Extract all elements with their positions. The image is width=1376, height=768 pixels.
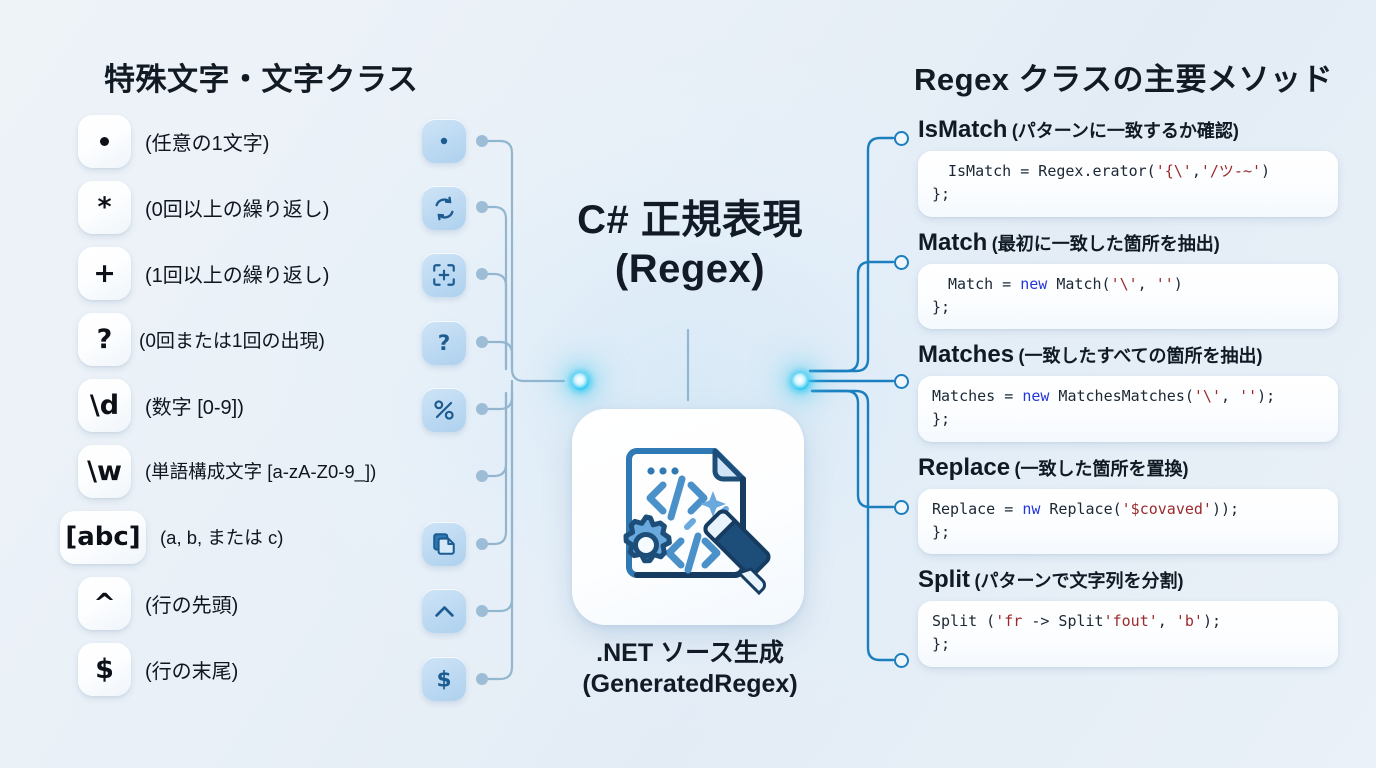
method-heading: Split (パターンで文字列を分割): [918, 566, 1338, 594]
plus-square-icon: [422, 253, 466, 297]
method-block-replace: Replace (一致した箇所を置換) Replace = nw Replace…: [918, 454, 1338, 555]
center-caption: .NET ソース生成 (GeneratedRegex): [520, 638, 860, 701]
page-title-line2: (Regex): [520, 245, 860, 294]
method-note: (一致した箇所を置換): [1015, 459, 1189, 479]
code-line-1: IsMatch = Regex.erator(: [932, 162, 1156, 180]
code-line-2: };: [932, 185, 950, 203]
code-line-2: };: [932, 523, 950, 541]
method-heading: Replace (一致した箇所を置換): [918, 454, 1338, 482]
dot-glyph: [100, 137, 109, 146]
code-text: Replace(: [1040, 500, 1121, 518]
method-note: (一致したすべての箇所を抽出): [1019, 346, 1263, 366]
copy-icon: [422, 522, 466, 566]
percent-icon: [422, 388, 466, 432]
method-note: (パターンに一致するか確認): [1012, 121, 1239, 141]
code-snippet-split: Split ('fr -> Split'fout', 'b'); };: [918, 601, 1338, 667]
left-column-title: 特殊文字・文字クラス: [104, 54, 418, 99]
dot-icon: [422, 119, 466, 163]
code-text: ): [1261, 162, 1270, 180]
code-text: -> Split: [1022, 612, 1103, 630]
regex-methods-list: IsMatch (パターンに一致するか確認) IsMatch = Regex.e…: [918, 116, 1338, 671]
svg-text:$: $: [436, 668, 451, 692]
code-line-1: Split (: [932, 612, 995, 630]
code-text: );: [1203, 612, 1221, 630]
code-keyword: nw: [1022, 500, 1040, 518]
symbol-description: (行の先頭): [145, 589, 238, 618]
symbol-badge-word-class: \w: [78, 445, 131, 498]
code-text: ): [1174, 275, 1183, 293]
code-string: '$covaved': [1122, 500, 1212, 518]
code-text: ,: [1192, 162, 1201, 180]
method-block-match: Match (最初に一致した箇所を抽出) Match = new Match('…: [918, 229, 1338, 330]
symbol-description: (0回以上の繰り返し): [145, 193, 329, 222]
code-line-1: Matches =: [932, 387, 1022, 405]
symbol-description: (単語構成文字 [a-zA-Z0-9_]): [145, 458, 376, 484]
code-keyword: new: [1020, 275, 1047, 293]
connector-ring-matches: [894, 374, 909, 389]
connector-ring-split: [894, 653, 909, 668]
code-line-2: };: [932, 410, 950, 428]
code-string: '\': [1111, 275, 1138, 293]
method-name: Matches: [918, 341, 1014, 368]
method-heading: IsMatch (パターンに一致するか確認): [918, 116, 1338, 144]
connector-ring-replace: [894, 500, 909, 515]
method-block-matches: Matches (一致したすべての箇所を抽出) Matches = new Ma…: [918, 341, 1338, 442]
connector-ring-match: [894, 255, 909, 270]
code-text: ,: [1158, 612, 1176, 630]
symbol-badge-dollar: $: [78, 643, 131, 696]
symbol-description: (任意の1文字): [145, 127, 269, 156]
code-text: Match(: [1047, 275, 1110, 293]
code-snippet-match: Match = new Match('\', '') };: [918, 264, 1338, 330]
center-caption-line1: .NET ソース生成: [520, 638, 860, 669]
code-line-2: };: [932, 298, 950, 316]
right-column-title: Regex クラスの主要メソッド: [914, 54, 1333, 99]
symbol-badge-question: ?: [78, 313, 131, 366]
symbol-badge-character-set: [abc]: [60, 511, 146, 564]
code-string: '': [1239, 387, 1257, 405]
code-line-2: };: [932, 635, 950, 653]
symbol-badge-caret: ^: [78, 577, 131, 630]
symbol-badge-digit-class: \d: [78, 379, 131, 432]
method-block-split: Split (パターンで文字列を分割) Split ('fr -> Split'…: [918, 566, 1338, 667]
code-line-1: Replace =: [932, 500, 1022, 518]
code-text: ,: [1138, 275, 1156, 293]
method-heading: Match (最初に一致した箇所を抽出): [918, 229, 1338, 257]
method-name: Match: [918, 229, 987, 256]
center-caption-line2: (GeneratedRegex): [520, 669, 860, 700]
code-text: ));: [1212, 500, 1239, 518]
code-snippet-matches: Matches = new MatchesMatches('\', ''); }…: [918, 376, 1338, 442]
method-name: Replace: [918, 454, 1010, 481]
svg-text:?: ?: [438, 331, 451, 356]
hub-node-left: [572, 373, 589, 390]
method-name: Split: [918, 566, 970, 593]
code-text: ,: [1221, 387, 1239, 405]
connector-ring-ismatch: [894, 131, 909, 146]
symbol-description: (0回または1回の出現): [139, 326, 325, 353]
code-string: '\': [1194, 387, 1221, 405]
refresh-icon: [422, 186, 466, 230]
caret-up-icon: [422, 589, 466, 633]
page-title: C# 正規表現 (Regex): [520, 196, 860, 294]
code-string: '': [1156, 275, 1174, 293]
code-text: );: [1257, 387, 1275, 405]
method-heading: Matches (一致したすべての箇所を抽出): [918, 341, 1338, 369]
code-keyword: new: [1022, 387, 1049, 405]
method-note: (最初に一致した箇所を抽出): [992, 234, 1220, 254]
dollar-icon: $: [422, 657, 466, 701]
code-string: 'fr: [995, 612, 1022, 630]
code-snippet-ismatch: IsMatch = Regex.erator('{\','/ツ-~') };: [918, 151, 1338, 217]
code-string: '/ツ-~': [1201, 162, 1261, 180]
symbol-description: (数字 [0-9]): [145, 391, 244, 420]
code-string: 'b': [1176, 612, 1203, 630]
symbol-badge-asterisk: *: [78, 181, 131, 234]
code-string: 'fout': [1104, 612, 1158, 630]
symbol-badge-dot: [78, 115, 131, 168]
method-note: (パターンで文字列を分割): [974, 571, 1183, 591]
code-string: '{\': [1156, 162, 1192, 180]
symbol-description: (行の末尾): [145, 655, 238, 684]
code-text: MatchesMatches(: [1049, 387, 1194, 405]
code-snippet-replace: Replace = nw Replace('$covaved')); };: [918, 489, 1338, 555]
symbol-description: (a, b, または c): [160, 524, 283, 550]
symbol-description: (1回以上の繰り返し): [145, 259, 329, 288]
code-line-1: Match =: [932, 275, 1020, 293]
method-name: IsMatch: [918, 116, 1007, 143]
question-icon: ?: [422, 321, 466, 365]
symbol-badge-plus: +: [78, 247, 131, 300]
hub-node-right: [792, 373, 809, 390]
page-title-line1: C# 正規表現: [520, 196, 860, 245]
code-document-gear-wand-icon: [572, 409, 804, 625]
method-block-ismatch: IsMatch (パターンに一致するか確認) IsMatch = Regex.e…: [918, 116, 1338, 217]
list-item: \w (単語構成文字 [a-zA-Z0-9_]): [78, 438, 508, 504]
